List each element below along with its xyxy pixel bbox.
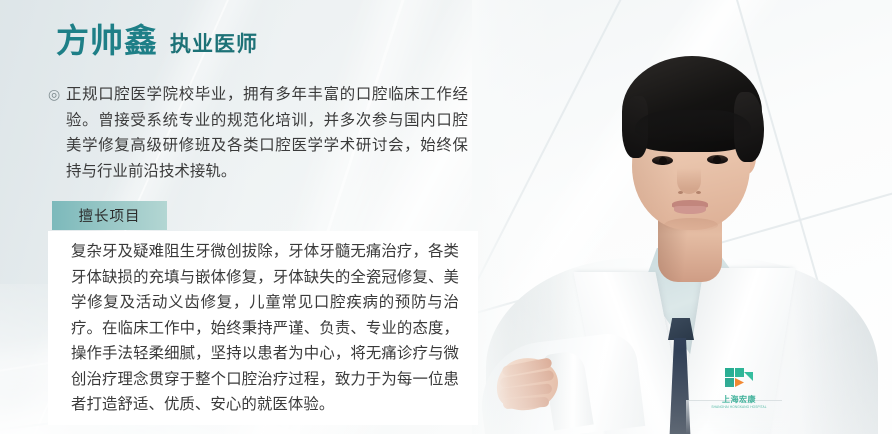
specialty-panel: 复杂牙及疑难阻生牙微创拔除，牙体牙髓无痛治疗，各类牙体缺损的充填与嵌体修复，牙体… [48, 231, 478, 425]
logo-arrow [735, 378, 744, 387]
nostril [678, 191, 683, 194]
hospital-logo-name-en: SHANGHAI HONGKANG HOSPITAL [710, 405, 768, 409]
hair-fringe [635, 110, 751, 142]
nostril [696, 191, 701, 194]
logo-triangle [744, 372, 753, 381]
bullet-circle-icon: ◎ [48, 82, 66, 184]
hospital-logo-name-cn: 上海宏康 [710, 395, 768, 404]
doctor-figure: 上海宏康 SHANGHAI HONGKANG HOSPITAL [472, 0, 892, 434]
pupil-left [659, 157, 667, 165]
hospital-logo-mark [722, 368, 756, 394]
doctor-qualification-title: 执业医师 [170, 34, 258, 57]
doctor-bio-text: 正规口腔医学院校毕业，拥有多年丰富的口腔临床工作经验。曾接受系统专业的规范化培训… [66, 82, 468, 184]
doctor-bio-block: ◎ 正规口腔医学院校毕业，拥有多年丰富的口腔临床工作经验。曾接受系统专业的规范化… [48, 82, 468, 184]
profile-text-column: 方帅鑫 执业医师 ◎ 正规口腔医学院校毕业，拥有多年丰富的口腔临床工作经验。曾接… [0, 0, 500, 434]
hospital-logo: 上海宏康 SHANGHAI HONGKANG HOSPITAL [710, 368, 768, 409]
pupil-right [713, 156, 721, 164]
necktie-knot [668, 318, 694, 340]
chin-shading [664, 218, 718, 232]
specialty-text: 复杂牙及疑难阻生牙微创拔除，牙体牙髓无痛治疗，各类牙体缺损的充填与嵌体修复，牙体… [71, 239, 459, 418]
doctor-profile-card: 上海宏康 SHANGHAI HONGKANG HOSPITAL 方帅鑫 执业医师… [0, 0, 892, 434]
specialty-section-badge: 擅长项目 [52, 201, 167, 230]
doctor-portrait-photo: 上海宏康 SHANGHAI HONGKANG HOSPITAL [472, 0, 892, 434]
doctor-name: 方帅鑫 [56, 24, 158, 57]
doctor-name-row: 方帅鑫 执业医师 [56, 24, 258, 57]
lower-lip [674, 206, 706, 214]
logo-square [735, 368, 744, 377]
logo-square [725, 368, 734, 377]
specialty-badge-label: 擅长项目 [79, 205, 141, 226]
logo-square [725, 378, 734, 387]
